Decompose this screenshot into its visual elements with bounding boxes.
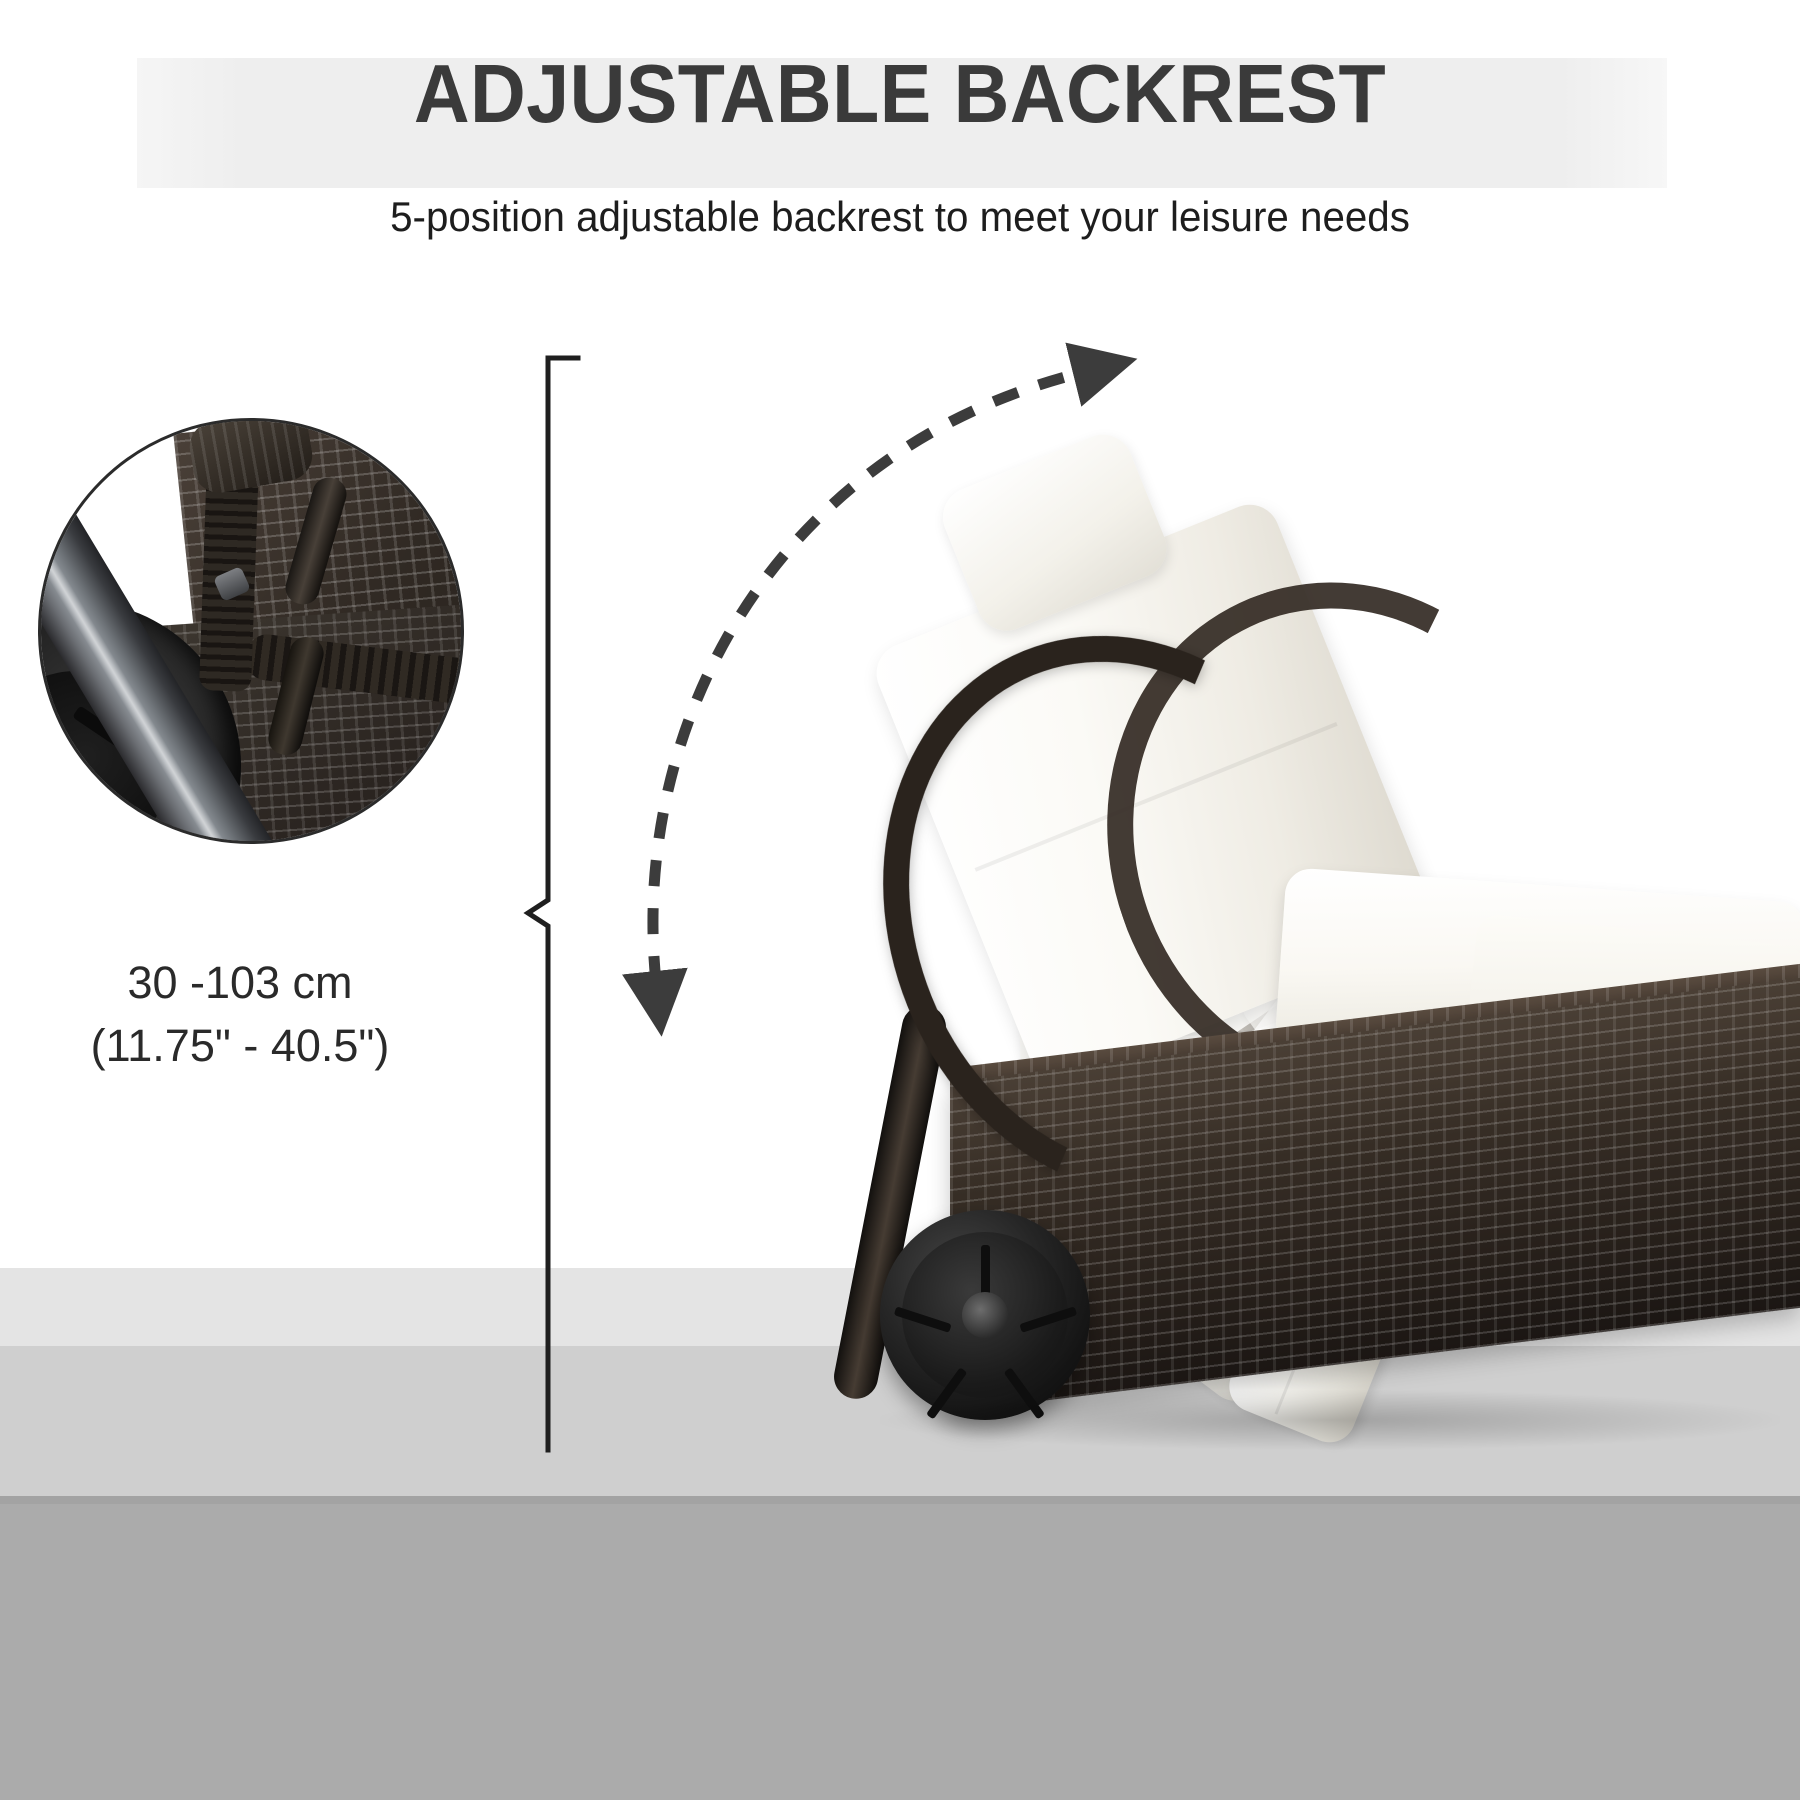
product-feature-slide: ADJUSTABLE BACKREST 5-position adjustabl… (0, 0, 1800, 1800)
page-subtitle: 5-position adjustable backrest to meet y… (36, 196, 1764, 238)
floor-shadow (880, 1390, 1780, 1450)
dimension-label-inch: (11.75" - 40.5") (20, 1020, 460, 1072)
wheel-hub (962, 1292, 1008, 1338)
dimension-label-cm: 30 -103 cm (20, 957, 460, 1009)
detail-closeup-circle (38, 418, 464, 844)
product-photo (590, 330, 1800, 1510)
page-title: ADJUSTABLE BACKREST (63, 52, 1737, 135)
background-floor (0, 1496, 1800, 1800)
